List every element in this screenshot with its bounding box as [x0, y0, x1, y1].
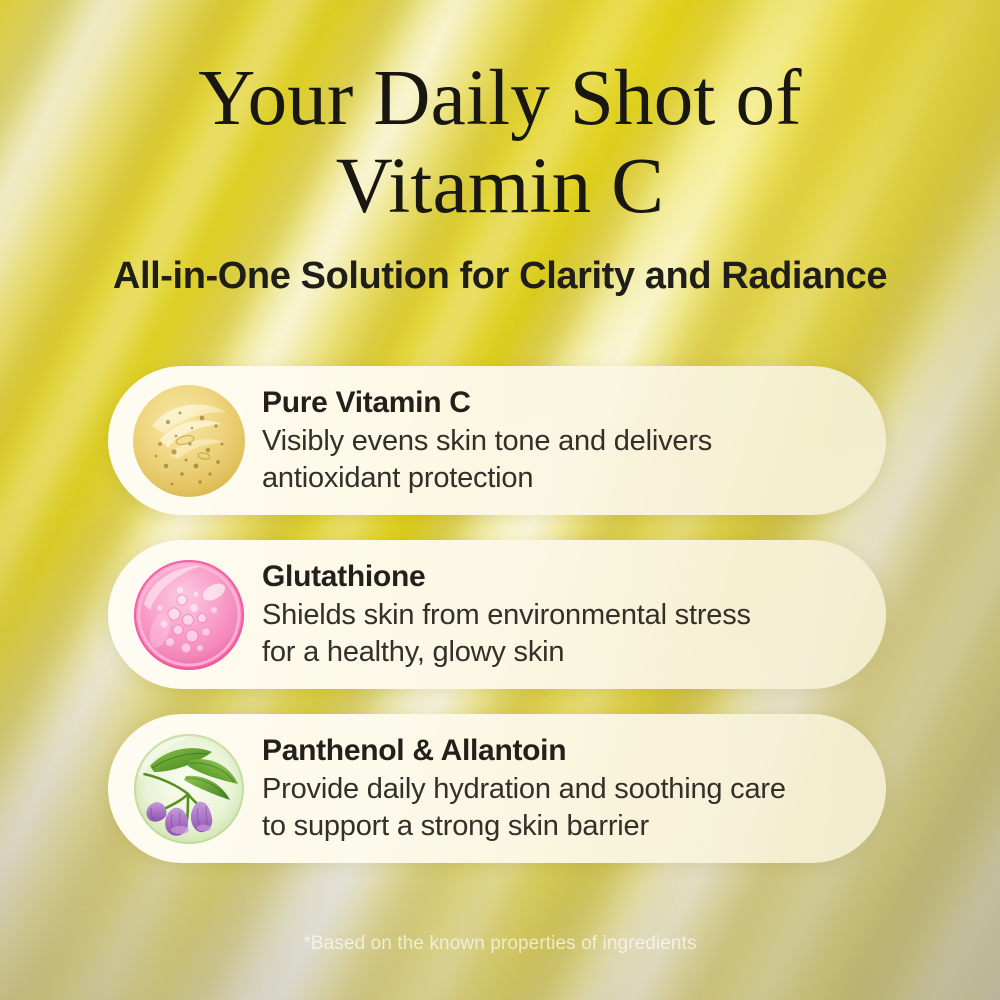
page-subtitle: All-in-One Solution for Clarity and Radi… [0, 253, 1000, 299]
ingredient-card-glutathione: Glutathione Shields skin from environmen… [108, 540, 886, 689]
ingredient-description-line-2: for a healthy, glowy skin [262, 634, 852, 671]
footnote-disclaimer: *Based on the known properties of ingred… [0, 932, 1000, 956]
ingredient-description-line-1: Provide daily hydration and soothing car… [262, 771, 852, 808]
page-title: Your Daily Shot of Vitamin C [0, 0, 1000, 231]
ingredient-card-pure-vitamin-c: Pure Vitamin C Visibly evens skin tone a… [108, 366, 886, 515]
poster-canvas: Your Daily Shot of Vitamin C All-in-One … [0, 0, 1000, 1000]
ingredient-title: Pure Vitamin C [262, 385, 852, 421]
ingredient-card-text: Glutathione Shields skin from environmen… [262, 559, 886, 671]
ingredient-title: Panthenol & Allantoin [262, 733, 852, 769]
ingredient-title: Glutathione [262, 559, 852, 595]
ingredient-card-panthenol-allantoin: Panthenol & Allantoin Provide daily hydr… [108, 714, 886, 863]
vitamin-c-gel-swatch-icon [130, 382, 248, 500]
ingredient-description-line-1: Visibly evens skin tone and delivers [262, 423, 852, 460]
ingredient-description-line-2: antioxidant protection [262, 460, 852, 497]
ingredient-card-text: Pure Vitamin C Visibly evens skin tone a… [262, 385, 886, 497]
page-title-line-1: Your Daily Shot of [198, 55, 802, 142]
header-block: Your Daily Shot of Vitamin C All-in-One … [0, 0, 1000, 299]
ingredient-description: Provide daily hydration and soothing car… [262, 771, 852, 845]
page-title-line-2: Vitamin C [0, 143, 1000, 231]
ingredient-description: Visibly evens skin tone and delivers ant… [262, 423, 852, 497]
ingredient-card-list: Pure Vitamin C Visibly evens skin tone a… [108, 366, 886, 863]
glutathione-pink-gel-droplet-icon [130, 556, 248, 674]
ingredient-description-line-1: Shields skin from environmental stress [262, 597, 852, 634]
ingredient-description-line-2: to support a strong skin barrier [262, 808, 852, 845]
comfrey-plant-flower-icon [130, 730, 248, 848]
ingredient-description: Shields skin from environmental stress f… [262, 597, 852, 671]
ingredient-card-text: Panthenol & Allantoin Provide daily hydr… [262, 733, 886, 845]
